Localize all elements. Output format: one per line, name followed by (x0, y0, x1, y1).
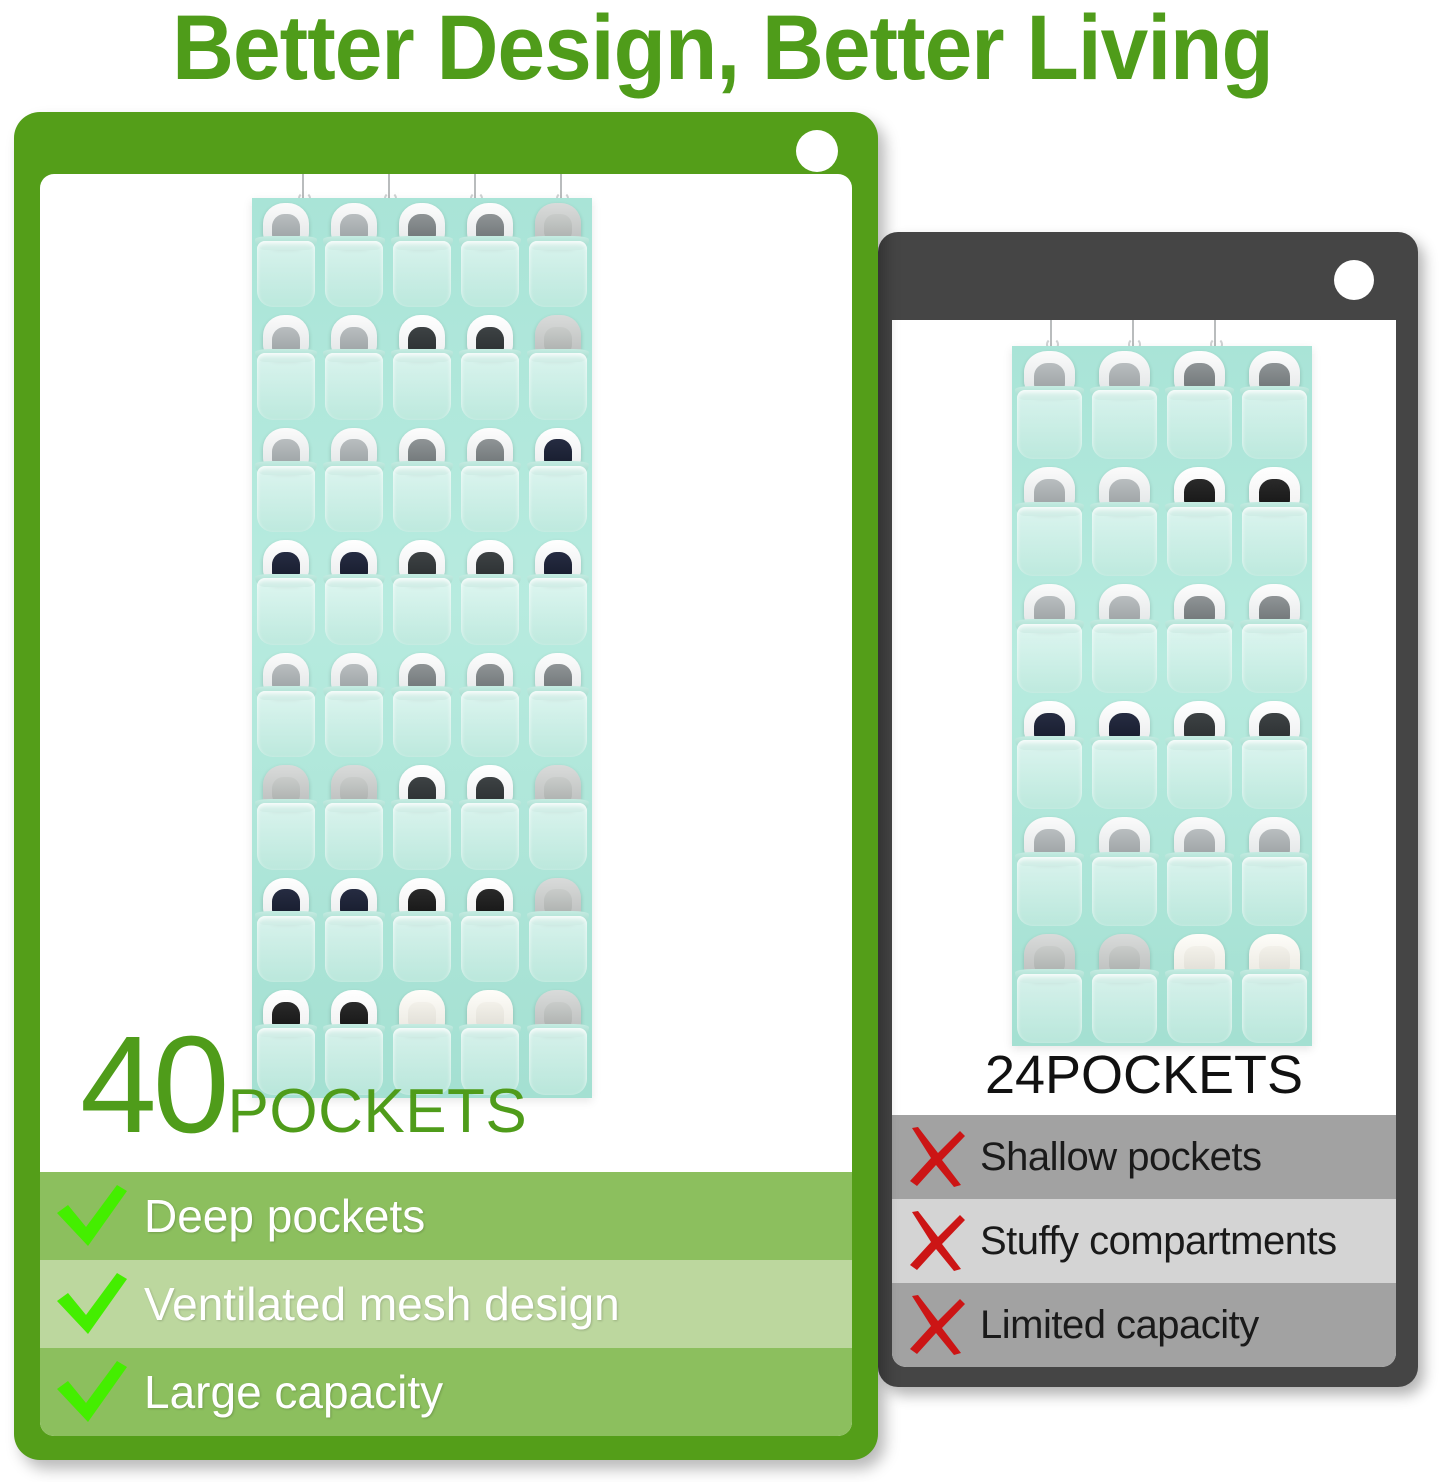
pocket-mesh (325, 691, 384, 757)
comparison-panel-competitor: 24POCKETS Shallow pocketsStuffy compartm… (878, 232, 1418, 1387)
pocket-mesh (1242, 390, 1307, 459)
organizer-pocket (1237, 463, 1312, 580)
organizer-pocket (1162, 579, 1237, 696)
pocket-mesh (1017, 974, 1082, 1043)
pocket-mesh (1017, 624, 1082, 693)
organizer-pocket (456, 311, 524, 424)
pocket-mesh (1167, 974, 1232, 1043)
pocket-mesh (393, 466, 452, 532)
pocket-mesh (529, 241, 588, 307)
feature-row: Stuffy compartments (892, 1199, 1396, 1283)
pocket-mesh (257, 466, 316, 532)
pocket-mesh (1017, 390, 1082, 459)
pocket-mesh (257, 353, 316, 419)
organizer-pocket (524, 311, 592, 424)
hanging-hook-icon (1214, 320, 1216, 346)
shoe-organizer-24-pockets (1012, 346, 1312, 1046)
organizer-pocket (524, 198, 592, 311)
cross-icon-wrap (892, 1126, 980, 1188)
check-icon (55, 1271, 129, 1337)
feature-row: Ventilated mesh design (40, 1260, 852, 1348)
pocket-mesh (393, 353, 452, 419)
organizer-pocket (320, 648, 388, 761)
organizer-pocket (456, 198, 524, 311)
comparison-panel-ours: 40 POCKETS Deep pocketsVentilated mesh d… (14, 112, 878, 1460)
organizer-pocket (252, 311, 320, 424)
organizer-pocket (456, 536, 524, 649)
pocket-mesh (393, 241, 452, 307)
organizer-pocket (524, 761, 592, 874)
pocket-mesh (325, 241, 384, 307)
organizer-pocket (1087, 813, 1162, 930)
feature-label: Shallow pockets (980, 1135, 1262, 1180)
pocket-count-competitor: 24POCKETS (892, 1044, 1396, 1106)
pocket-mesh (529, 353, 588, 419)
pocket-mesh (461, 803, 520, 869)
organizer-pocket (524, 536, 592, 649)
pocket-mesh (257, 803, 316, 869)
feature-label: Deep pockets (144, 1189, 425, 1243)
pocket-mesh (1167, 507, 1232, 576)
feature-label: Stuffy compartments (980, 1219, 1337, 1264)
pocket-mesh (325, 466, 384, 532)
pocket-mesh (1092, 390, 1157, 459)
shoe-organizer-40-pockets (252, 198, 592, 1098)
pocket-count-number: 40 (80, 1028, 226, 1144)
pocket-mesh (529, 466, 588, 532)
pocket-mesh (461, 691, 520, 757)
cross-icon-wrap (892, 1294, 980, 1356)
feature-list-competitor: Shallow pocketsStuffy compartmentsLimite… (892, 1115, 1396, 1367)
feature-label: Ventilated mesh design (144, 1277, 620, 1331)
organizer-pocket (1162, 813, 1237, 930)
pocket-mesh (1092, 974, 1157, 1043)
check-icon-wrap (40, 1359, 144, 1425)
pocket-mesh (1242, 624, 1307, 693)
organizer-pocket (320, 423, 388, 536)
organizer-pocket (388, 536, 456, 649)
pocket-mesh (461, 578, 520, 644)
organizer-pocket (252, 423, 320, 536)
hanging-hook-icon (560, 174, 562, 200)
pocket-mesh (257, 916, 316, 982)
organizer-pocket (388, 648, 456, 761)
organizer-pocket (1087, 929, 1162, 1046)
organizer-pocket (320, 311, 388, 424)
pocket-count-ours: 40 POCKETS (80, 1028, 527, 1144)
pocket-mesh (1167, 857, 1232, 926)
pocket-mesh (325, 803, 384, 869)
infographic-canvas: Better Design, Better Living 24POCKETS S… (0, 0, 1445, 1482)
organizer-pocket (1162, 463, 1237, 580)
hanging-hook-icon (1050, 320, 1052, 346)
feature-label: Limited capacity (980, 1303, 1259, 1348)
page-title: Better Design, Better Living (51, 0, 1395, 100)
organizer-pocket (388, 423, 456, 536)
organizer-pocket (1012, 346, 1087, 463)
pocket-mesh (325, 578, 384, 644)
feature-list-ours: Deep pocketsVentilated mesh designLarge … (40, 1172, 852, 1436)
pocket-mesh (325, 353, 384, 419)
pocket-mesh (325, 916, 384, 982)
cross-icon (905, 1126, 967, 1188)
cross-icon (905, 1210, 967, 1272)
pocket-count-word: POCKETS (228, 1086, 528, 1138)
pocket-mesh (1017, 857, 1082, 926)
organizer-pocket (252, 761, 320, 874)
pocket-mesh (529, 1028, 588, 1094)
organizer-pocket (252, 536, 320, 649)
pocket-mesh (1092, 624, 1157, 693)
organizer-pocket (388, 311, 456, 424)
cross-icon-wrap (892, 1210, 980, 1272)
pocket-mesh (1092, 740, 1157, 809)
hanging-hook-icon (302, 174, 304, 200)
organizer-pocket (320, 536, 388, 649)
pocket-mesh (393, 691, 452, 757)
feature-row: Deep pockets (40, 1172, 852, 1260)
pocket-mesh (393, 803, 452, 869)
organizer-pocket (1162, 346, 1237, 463)
feature-row: Shallow pockets (892, 1115, 1396, 1199)
ours-panel-content: 40 POCKETS Deep pocketsVentilated mesh d… (40, 174, 852, 1436)
pocket-mesh (1167, 390, 1232, 459)
cross-icon (905, 1294, 967, 1356)
pocket-mesh (529, 578, 588, 644)
feature-row: Large capacity (40, 1348, 852, 1436)
organizer-pocket (1237, 579, 1312, 696)
organizer-pocket (388, 198, 456, 311)
check-icon-wrap (40, 1271, 144, 1337)
pocket-mesh (461, 353, 520, 419)
pocket-mesh (1242, 740, 1307, 809)
check-icon (55, 1359, 129, 1425)
organizer-pocket (524, 648, 592, 761)
pocket-mesh (1092, 857, 1157, 926)
organizer-pocket (456, 873, 524, 986)
organizer-pocket (1237, 696, 1312, 813)
pocket-mesh (529, 803, 588, 869)
pocket-mesh (1017, 507, 1082, 576)
pocket-mesh (529, 691, 588, 757)
organizer-pocket (252, 198, 320, 311)
pocket-mesh (1092, 507, 1157, 576)
organizer-pocket (1237, 346, 1312, 463)
organizer-pocket (1087, 346, 1162, 463)
hanging-hook-icon (388, 174, 390, 200)
organizer-pocket (524, 423, 592, 536)
check-icon-wrap (40, 1183, 144, 1249)
pocket-mesh (461, 241, 520, 307)
organizer-pocket (1237, 813, 1312, 930)
organizer-pocket (524, 873, 592, 986)
organizer-pocket (320, 198, 388, 311)
pocket-mesh (257, 578, 316, 644)
pocket-mesh (1167, 740, 1232, 809)
organizer-pocket (1012, 696, 1087, 813)
pocket-mesh (257, 691, 316, 757)
feature-label: Large capacity (144, 1365, 443, 1419)
pocket-mesh (1242, 857, 1307, 926)
organizer-pocket (1087, 696, 1162, 813)
organizer-pocket (1012, 929, 1087, 1046)
organizer-pocket (524, 986, 592, 1099)
feature-row: Limited capacity (892, 1283, 1396, 1367)
organizer-pocket (1012, 463, 1087, 580)
panel-punch-hole-icon (1334, 260, 1374, 300)
competitor-panel-content: 24POCKETS Shallow pocketsStuffy compartm… (892, 320, 1396, 1367)
organizer-pocket (1237, 929, 1312, 1046)
organizer-pocket (1087, 579, 1162, 696)
panel-punch-hole-icon (796, 130, 838, 172)
hanging-hook-icon (474, 174, 476, 200)
organizer-pocket (456, 648, 524, 761)
organizer-pocket (1162, 929, 1237, 1046)
pocket-mesh (393, 916, 452, 982)
organizer-pocket (456, 761, 524, 874)
organizer-pocket (388, 761, 456, 874)
organizer-pocket (388, 873, 456, 986)
pocket-mesh (461, 466, 520, 532)
pocket-mesh (393, 578, 452, 644)
pocket-mesh (1242, 507, 1307, 576)
pocket-mesh (257, 241, 316, 307)
organizer-pocket (252, 873, 320, 986)
organizer-pocket (320, 873, 388, 986)
organizer-pocket (1012, 813, 1087, 930)
check-icon (55, 1183, 129, 1249)
hanging-hook-icon (1132, 320, 1134, 346)
organizer-pocket (1087, 463, 1162, 580)
pocket-mesh (529, 916, 588, 982)
organizer-pocket (456, 423, 524, 536)
pocket-mesh (1167, 624, 1232, 693)
pocket-mesh (461, 916, 520, 982)
organizer-pocket (320, 761, 388, 874)
pocket-mesh (1017, 740, 1082, 809)
organizer-pocket (1012, 579, 1087, 696)
organizer-pocket (252, 648, 320, 761)
organizer-pocket (1162, 696, 1237, 813)
pocket-mesh (1242, 974, 1307, 1043)
